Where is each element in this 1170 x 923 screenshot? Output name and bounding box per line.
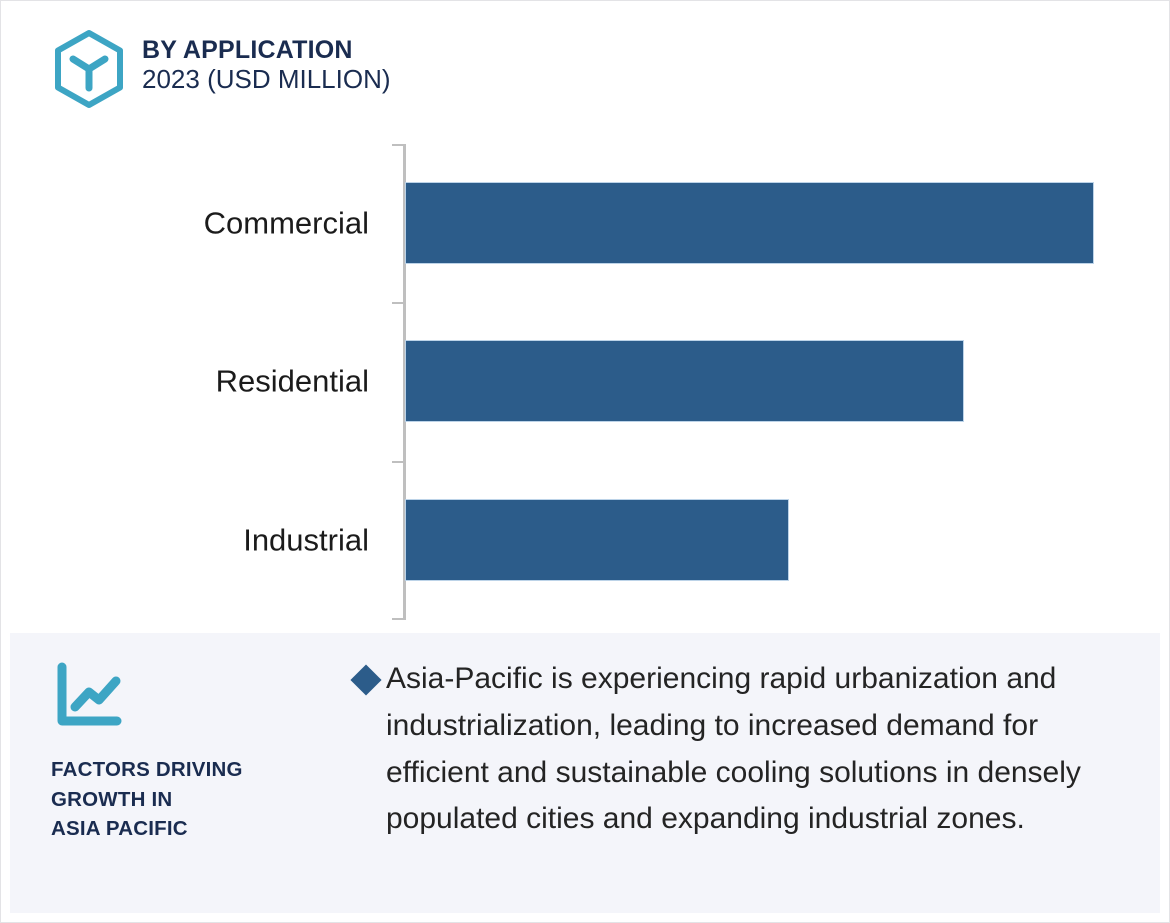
infographic-page: BY APPLICATION 2023 (USD MILLION) Commer… — [0, 0, 1170, 923]
bar-row: Industrial — [1, 460, 1170, 620]
header-text: BY APPLICATION 2023 (USD MILLION) — [142, 29, 391, 95]
hexagon-y-icon — [50, 29, 128, 109]
bar-label-residential: Residential — [1, 366, 369, 397]
insight-text: Asia-Pacific is experiencing rapid urban… — [386, 656, 1120, 843]
footer-heading-line-2: GROWTH IN — [51, 785, 355, 815]
footer-heading-line-3: ASIA PACIFIC — [51, 814, 355, 844]
bar-chart: Commercial Residential Industrial — [1, 131, 1170, 631]
footer-left: FACTORS DRIVING GROWTH IN ASIA PACIFIC — [10, 633, 355, 844]
footer-panel: FACTORS DRIVING GROWTH IN ASIA PACIFIC A… — [10, 633, 1160, 913]
bar-row: Residential — [1, 301, 1170, 461]
bar-industrial — [405, 499, 789, 581]
footer-heading-line-1: FACTORS DRIVING — [51, 755, 355, 785]
bar-label-industrial: Industrial — [1, 525, 369, 556]
bar-label-commercial: Commercial — [1, 208, 369, 239]
footer-right: Asia-Pacific is experiencing rapid urban… — [355, 633, 1160, 843]
bar-row: Commercial — [1, 143, 1170, 303]
bar-residential — [405, 340, 964, 422]
page-title: BY APPLICATION — [142, 36, 391, 64]
page-subtitle: 2023 (USD MILLION) — [142, 64, 391, 95]
line-chart-icon — [51, 661, 355, 733]
diamond-bullet-icon — [350, 664, 381, 695]
header: BY APPLICATION 2023 (USD MILLION) — [50, 29, 391, 109]
footer-heading: FACTORS DRIVING GROWTH IN ASIA PACIFIC — [51, 755, 355, 844]
bar-commercial — [405, 182, 1094, 264]
